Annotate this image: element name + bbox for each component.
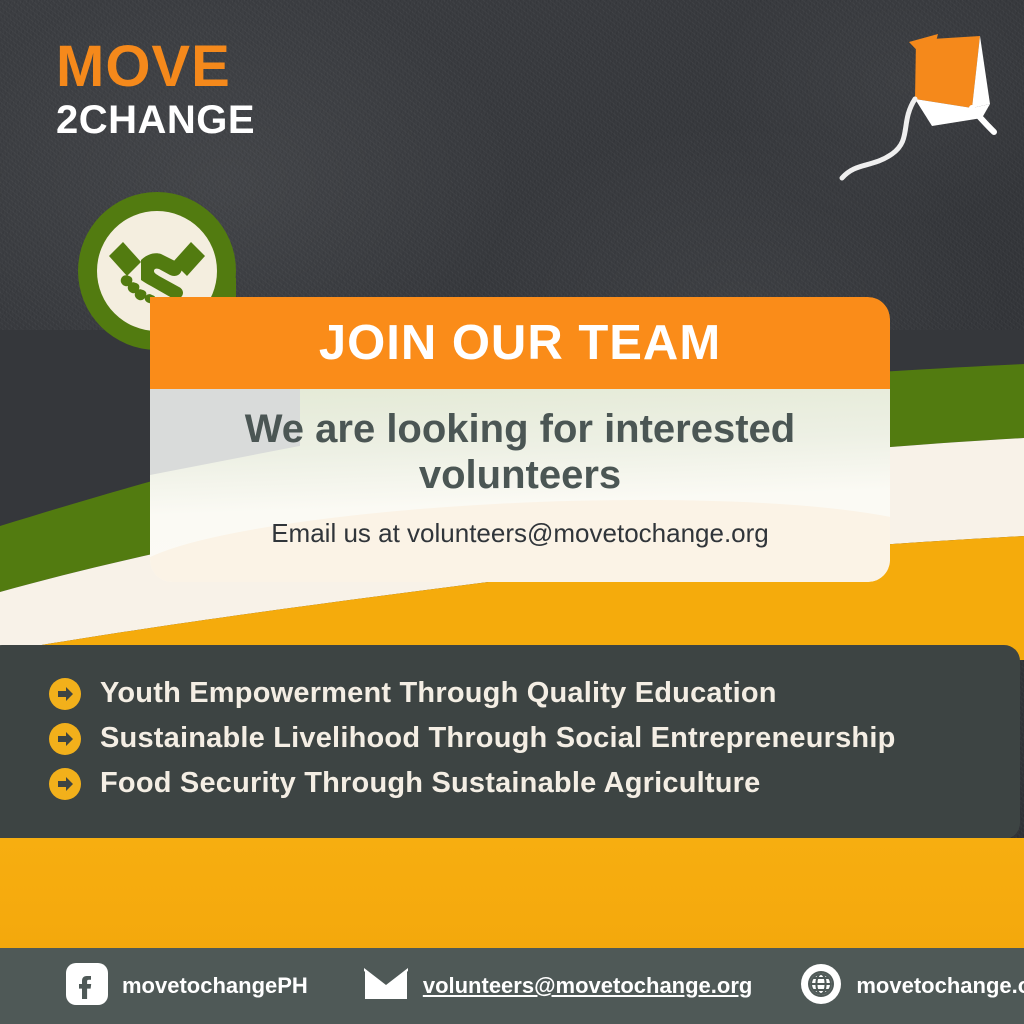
footer-email[interactable]: volunteers@movetochange.org	[363, 966, 753, 1007]
card-email-line[interactable]: Email us at volunteers@movetochange.org	[194, 518, 846, 549]
program-label: Youth Empowerment Through Quality Educat…	[100, 677, 777, 710]
footer-website-label: movetochange.org	[856, 973, 1024, 999]
facebook-icon	[66, 963, 108, 1010]
card-body: We are looking for interested volunteers…	[150, 389, 890, 582]
list-item: Sustainable Livelihood Through Social En…	[48, 716, 1020, 761]
logo-line-2change: 2CHANGE	[56, 100, 255, 140]
arrow-circle-right-icon	[48, 722, 82, 756]
logo-line-move: MOVE	[56, 38, 255, 96]
footer-facebook[interactable]: movetochangePH	[66, 963, 308, 1010]
footer-facebook-label: movetochangePH	[122, 973, 308, 999]
globe-icon	[800, 963, 842, 1010]
brand-logo[interactable]: MOVE 2CHANGE	[56, 38, 255, 140]
footer-contact-bar: movetochangePH volunteers@movetochange.o…	[0, 948, 1024, 1024]
footer-website[interactable]: movetochange.org	[800, 963, 1024, 1010]
join-team-card: JOIN OUR TEAM We are looking for interes…	[150, 297, 890, 582]
poster-canvas: MOVE 2CHANGE	[0, 0, 1024, 1024]
kite-icon	[812, 22, 1012, 202]
arrow-circle-right-icon	[48, 677, 82, 711]
programs-list: Youth Empowerment Through Quality Educat…	[0, 671, 1020, 806]
amber-divider	[0, 838, 1024, 953]
programs-panel: Youth Empowerment Through Quality Educat…	[0, 645, 1020, 839]
footer-email-label: volunteers@movetochange.org	[423, 973, 753, 999]
arrow-circle-right-icon	[48, 767, 82, 801]
list-item: Food Security Through Sustainable Agricu…	[48, 761, 1020, 806]
card-header-title: JOIN OUR TEAM	[319, 315, 721, 371]
list-item: Youth Empowerment Through Quality Educat…	[48, 671, 1020, 716]
program-label: Food Security Through Sustainable Agricu…	[100, 767, 760, 800]
program-label: Sustainable Livelihood Through Social En…	[100, 722, 896, 755]
handshake-icon	[107, 236, 207, 306]
card-header: JOIN OUR TEAM	[150, 297, 890, 389]
envelope-icon	[363, 966, 409, 1007]
card-headline: We are looking for interested volunteers	[194, 407, 846, 498]
